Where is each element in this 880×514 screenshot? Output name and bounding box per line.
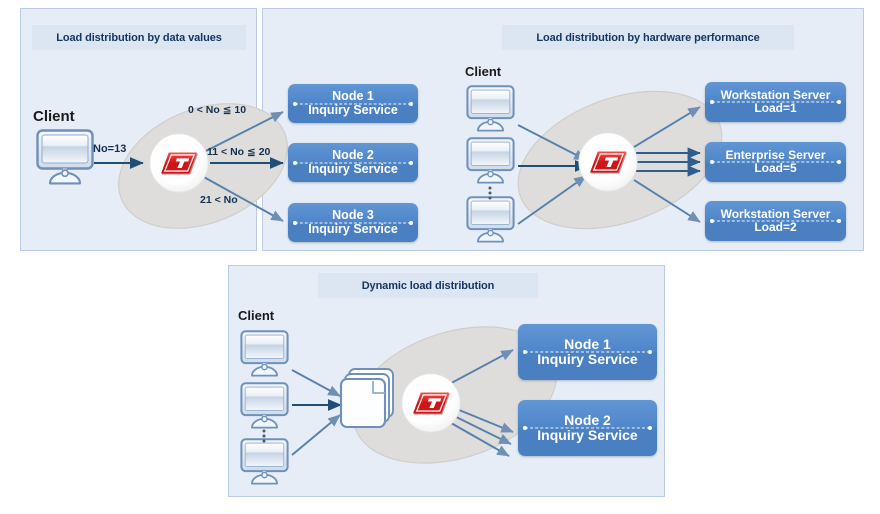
node-box-dot-left xyxy=(293,161,297,165)
node-box-divider xyxy=(525,352,650,353)
node-box-divider xyxy=(712,162,839,163)
panel-title-hardware-performance: Load distribution by hardware performanc… xyxy=(502,25,794,50)
node-box[interactable]: Node 2 Inquiry Service xyxy=(288,143,418,182)
node-box-dot-right xyxy=(837,219,841,223)
node-box-line2: Load=1 xyxy=(705,102,846,115)
node-box-line2: Inquiry Service xyxy=(288,223,418,237)
node-box[interactable]: Workstation Server Load=1 xyxy=(705,82,846,122)
panel-title-dynamic-load: Dynamic load distribution xyxy=(318,273,538,298)
edge-label-rule-3: 21 < No xyxy=(200,194,238,206)
node-box-line2: Load=5 xyxy=(705,162,846,175)
node-box-line2: Inquiry Service xyxy=(288,104,418,118)
node-box-line2: Inquiry Service xyxy=(288,163,418,177)
node-box-line1: Node 2 xyxy=(288,149,418,163)
client-label: Client xyxy=(238,308,274,323)
node-box-dot-left xyxy=(293,221,297,225)
node-box[interactable]: Node 2 Inquiry Service xyxy=(518,400,657,456)
client-label: Client xyxy=(465,64,501,79)
node-box-divider xyxy=(525,428,650,429)
node-box-dot-left xyxy=(710,100,714,104)
node-box-divider xyxy=(295,103,411,104)
node-box[interactable]: Node 1 Inquiry Service xyxy=(518,324,657,380)
node-box[interactable]: Node 1 Inquiry Service xyxy=(288,84,418,123)
node-box-dot-right xyxy=(648,350,652,354)
node-box-line1: Node 1 xyxy=(288,90,418,104)
panel-title-data-values: Load distribution by data values xyxy=(32,25,246,50)
node-box[interactable]: Enterprise Server Load=5 xyxy=(705,142,846,182)
node-box-divider xyxy=(712,221,839,222)
edge-label-rule-1: 0 < No ≦ 10 xyxy=(188,104,246,116)
node-box-line2: Inquiry Service xyxy=(518,352,657,367)
node-box[interactable]: Node 3 Inquiry Service xyxy=(288,203,418,242)
node-box-line2: Load=2 xyxy=(705,221,846,234)
node-box-line1: Node 3 xyxy=(288,209,418,223)
node-box-dot-right xyxy=(837,160,841,164)
edge-label-rule-2: 11 < No ≦ 20 xyxy=(207,146,270,158)
node-box-divider xyxy=(712,102,839,103)
node-box-dot-right xyxy=(409,161,413,165)
node-box-line2: Inquiry Service xyxy=(518,428,657,443)
node-box-dot-right xyxy=(837,100,841,104)
node-box-line1: Node 2 xyxy=(518,413,657,428)
node-box-divider xyxy=(295,162,411,163)
node-box-dot-left xyxy=(710,160,714,164)
node-box-dot-right xyxy=(648,426,652,430)
node-box-dot-left xyxy=(710,219,714,223)
client-label: Client xyxy=(33,108,75,125)
diagram-canvas: Load distribution by data values Load di… xyxy=(0,0,880,514)
node-box[interactable]: Workstation Server Load=2 xyxy=(705,201,846,241)
node-box-dot-left xyxy=(523,426,527,430)
node-box-line1: Node 1 xyxy=(518,337,657,352)
node-box-dot-left xyxy=(523,350,527,354)
node-box-dot-left xyxy=(293,102,297,106)
node-box-dot-right xyxy=(409,221,413,225)
edge-label-input: No=13 xyxy=(93,143,126,155)
node-box-divider xyxy=(295,222,411,223)
panel-dynamic-load-distribution xyxy=(228,265,665,497)
node-box-dot-right xyxy=(409,102,413,106)
